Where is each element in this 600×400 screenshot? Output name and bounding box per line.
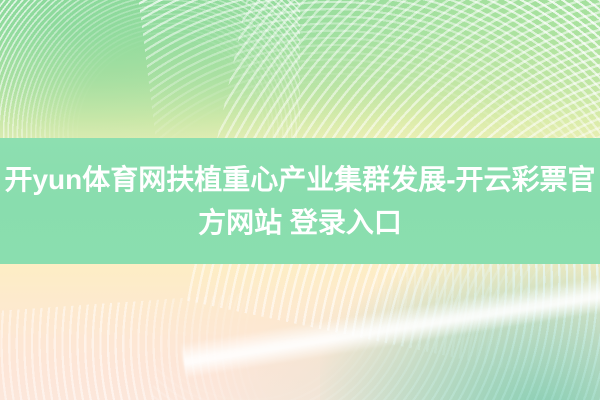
flowing-wave-lines-bottom-left-icon (0, 281, 454, 400)
page-title-line-1: 开yun体育网扶植重心产业集群发展-开云彩票官 (4, 158, 595, 201)
diagonal-light-streak (181, 256, 600, 377)
teal-accent-glow (320, 240, 600, 400)
banner-image: 开yun体育网扶植重心产业集群发展-开云彩票官 方网站 登录入口 (0, 0, 600, 400)
page-title-line-2: 方网站 登录入口 (198, 201, 402, 244)
page-title: 开yun体育网扶植重心产业集群发展-开云彩票官 方网站 登录入口 (0, 138, 600, 264)
